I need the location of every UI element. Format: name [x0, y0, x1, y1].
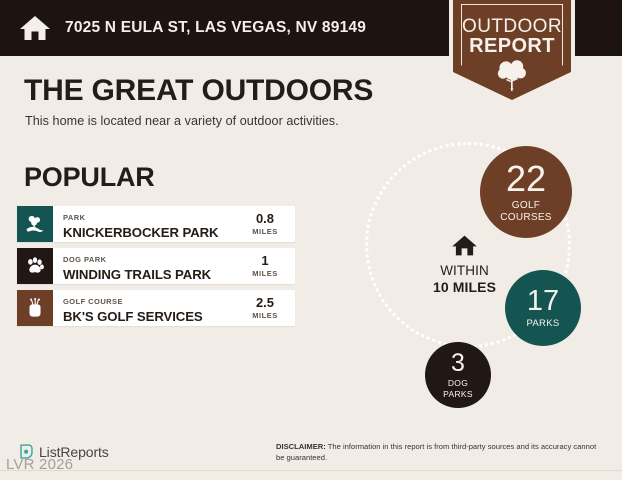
count-label: DOG PARKS: [443, 378, 473, 398]
within-radius: 10 MILES: [402, 279, 527, 295]
count-value: 17: [527, 287, 559, 316]
count-label-line2: PARKS: [443, 389, 473, 399]
house-icon: [402, 234, 527, 257]
golf-bag-icon: [17, 290, 53, 326]
list-item[interactable]: DOG PARK WINDING TRAILS PARK 1 MILES: [17, 248, 295, 284]
badge-title-line2: REPORT: [453, 35, 571, 58]
property-address: 7025 N EULA ST, LAS VEGAS, NV 89149: [65, 19, 366, 37]
list-item-text: GOLF COURSE BK'S GOLF SERVICES: [63, 292, 237, 325]
footer-divider: [0, 470, 622, 471]
list-item[interactable]: GOLF COURSE BK'S GOLF SERVICES 2.5 MILES: [17, 290, 295, 326]
watermark: LVR 2026: [6, 456, 73, 473]
popular-heading: POPULAR: [24, 162, 155, 193]
list-item-text: PARK KNICKERBOCKER PARK: [63, 208, 237, 241]
popular-list: PARK KNICKERBOCKER PARK 0.8 MILES: [17, 206, 295, 332]
diagram-center: WITHIN 10 MILES: [402, 234, 527, 295]
count-bubble-dog-parks: 3 DOG PARKS: [425, 342, 491, 408]
count-bubble-golf-courses: 22 GOLF COURSES: [480, 146, 572, 238]
list-item-text: DOG PARK WINDING TRAILS PARK: [63, 250, 237, 283]
report-page: 7025 N EULA ST, LAS VEGAS, NV 89149 OUTD…: [0, 0, 622, 480]
count-value: 3: [451, 351, 465, 376]
distance-value: 1: [237, 254, 293, 268]
list-item-distance: 2.5 MILES: [237, 296, 293, 320]
count-label-line1: GOLF: [512, 200, 540, 211]
page-title: THE GREAT OUTDOORS: [24, 74, 373, 108]
within-label: WITHIN: [402, 263, 527, 279]
house-icon: [18, 13, 52, 43]
count-label-line2: COURSES: [500, 212, 552, 223]
disclaimer-label: DISCLAIMER:: [276, 442, 326, 451]
list-item-distance: 1 MILES: [237, 254, 293, 278]
distance-unit: MILES: [237, 312, 293, 320]
count-label-line1: DOG: [448, 378, 468, 388]
park-tree-icon: [17, 206, 53, 242]
count-label: PARKS: [526, 319, 559, 329]
distance-unit: MILES: [237, 228, 293, 236]
list-item[interactable]: PARK KNICKERBOCKER PARK 0.8 MILES: [17, 206, 295, 242]
list-item-category: PARK: [63, 213, 86, 222]
list-item-name: WINDING TRAILS PARK: [63, 268, 237, 282]
count-value: 22: [506, 161, 546, 197]
distance-unit: MILES: [237, 270, 293, 278]
distance-value: 0.8: [237, 212, 293, 226]
nearby-counts-diagram: 22 GOLF COURSES 17 PARKS 3 DOG PARKS WIT: [330, 130, 615, 420]
count-label: GOLF COURSES: [500, 200, 552, 224]
list-item-category: GOLF COURSE: [63, 297, 123, 306]
list-item-name: KNICKERBOCKER PARK: [63, 226, 237, 240]
list-item-name: BK'S GOLF SERVICES: [63, 310, 237, 324]
page-subtitle: This home is located near a variety of o…: [25, 114, 339, 128]
disclaimer: DISCLAIMER: The information in this repo…: [276, 441, 606, 464]
badge-gap-right: [571, 0, 575, 56]
list-item-category: DOG PARK: [63, 255, 106, 264]
list-item-distance: 0.8 MILES: [237, 212, 293, 236]
distance-value: 2.5: [237, 296, 293, 310]
paw-print-icon: [17, 248, 53, 284]
tree-icon: [497, 58, 527, 97]
